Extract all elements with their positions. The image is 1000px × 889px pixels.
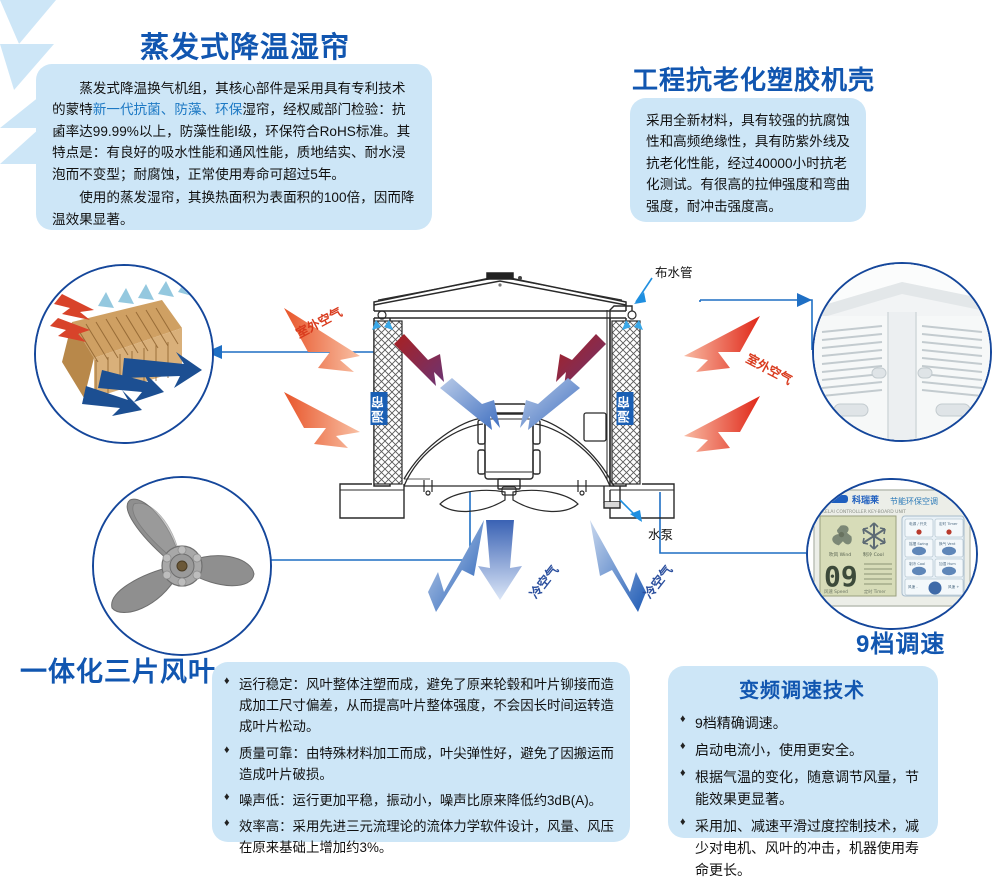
svg-text:摇摆 Swing: 摇摆 Swing (909, 541, 928, 546)
svg-text:风速 +: 风速 + (948, 584, 959, 589)
label-water-pipe: 布水管 (655, 262, 693, 281)
svg-text:换气 Vent: 换气 Vent (939, 541, 956, 546)
label-outdoor-air-left: 室外空气 (292, 302, 345, 342)
arrow-cooled-air-left (440, 378, 500, 430)
svg-text:风速 -: 风速 - (908, 584, 918, 589)
list-item: 9档精确调速。 (680, 712, 924, 734)
list-item: 采用加、减速平滑过度控制技术，减少对电机、风叶的冲击，机器使用寿命更长。 (680, 815, 924, 881)
callout-evaporative-pad: 蒸发式降温换气机组，其核心部件是采用具有专利技术的蒙特新一代抗菌、防藻、环保湿帘… (36, 64, 432, 230)
photo-controller-panel: 科瑞莱 节能环保空调 KELAI CONTROLLER KEY-BOARD UN… (806, 478, 978, 630)
arrow-through-pad-left (394, 334, 444, 386)
connector-lines (206, 300, 812, 560)
svg-text:吹风 Wind: 吹风 Wind (829, 551, 851, 558)
arrow-cold-air-left (428, 520, 484, 612)
svg-text:加湿 Hum: 加湿 Hum (939, 561, 956, 566)
svg-text:制冷 Cool: 制冷 Cool (909, 561, 925, 566)
list-item: 运行稳定：风叶整体注塑而成，避免了原来轮毂和叶片铆接而造成加工尺寸偏差，从而提高… (224, 674, 614, 738)
controller-display-value: 09 (824, 560, 858, 593)
shell-paragraph: 采用全新材料，具有较强的抗腐蚀性和高频绝缘性，具有防紫外线及抗老化性能，经过40… (646, 110, 852, 217)
blade-bullet-list: 运行稳定：风叶整体注塑而成，避免了原来轮毂和叶片铆接而造成加工尺寸偏差，从而提高… (224, 674, 614, 858)
svg-text:电源 / 开关: 电源 / 开关 (909, 521, 927, 526)
infographic-canvas: 蒸发式降温湿帘 工程抗老化塑胶机壳 一体化三片风叶 9档调速 蒸发式降温换气机组… (0, 0, 1000, 889)
venturi-duct (404, 418, 610, 486)
svg-text:制冷 Cool: 制冷 Cool (863, 551, 884, 558)
svg-text:风速 Speed: 风速 Speed (824, 589, 848, 595)
heading-evaporative-pad: 蒸发式降温湿帘 (140, 24, 350, 66)
plastic-shell-illustration (814, 264, 990, 440)
svg-text:定时 Timer: 定时 Timer (939, 521, 958, 526)
label-cold-air-right: 冷空气 (638, 560, 676, 601)
callout-plastic-shell: 采用全新材料，具有较强的抗腐蚀性和高频绝缘性，具有防紫外线及抗老化性能，经过40… (630, 98, 866, 222)
arrow-cooled-air-right (520, 378, 580, 430)
unit-body (374, 273, 626, 486)
fan-motor-assembly (478, 404, 540, 489)
arrow-cold-air-center (478, 520, 522, 600)
label-water-pump: 水泵 (648, 524, 673, 543)
pad-paragraph-1: 蒸发式降温换气机组，其核心部件是采用具有专利技术的蒙特新一代抗菌、防藻、环保湿帘… (52, 78, 416, 185)
list-item: 根据气温的变化，随意调节风量，节能效果更显著。 (680, 766, 924, 810)
speed-bubble-title: 变频调速技术 (680, 676, 924, 708)
pad-text-highlight: 新一代抗菌、防藻、环保 (93, 102, 243, 117)
pad-paragraph-2: 使用的蒸发湿帘，其换热面积为表面积的100倍，因而降温效果显著。 (52, 187, 416, 230)
water-tanks (340, 484, 674, 518)
float-valve-box (584, 413, 606, 441)
fan-blade-illustration (94, 478, 270, 654)
photo-fan-blade (92, 476, 272, 656)
label-outdoor-air-right: 室外空气 (743, 348, 796, 388)
speed-bullet-list: 9档精确调速。 启动电流小，使用更安全。 根据气温的变化，随意调节风量，节能效果… (680, 712, 924, 882)
svg-text:KELAI CONTROLLER KEY-BOARD UN: KELAI CONTROLLER KEY-BOARD UNIT (822, 509, 906, 515)
controller-illustration: 科瑞莱 节能环保空调 KELAI CONTROLLER KEY-BOARD UN… (808, 480, 976, 628)
svg-text:定时 Timer: 定时 Timer (864, 588, 886, 595)
arrow-outdoor-air-right-lower (684, 396, 760, 452)
label-cold-air-left: 冷空气 (524, 560, 562, 601)
fan-blades (440, 487, 578, 511)
list-item: 质量可靠：由特殊材料加工而成，叶尖弹性好，避免了因搬运而造成叶片破损。 (224, 743, 614, 785)
spray-nozzles (372, 311, 643, 330)
list-item: 噪声低：运行更加平稳，振动小，噪声比原来降低约3dB(A)。 (224, 790, 614, 811)
label-pad-left: 湿帘 (371, 392, 388, 425)
arrow-through-pad-right (556, 334, 606, 386)
evaporative-pad-illustration (36, 266, 212, 442)
svg-text:节能环保空调: 节能环保空调 (890, 496, 938, 506)
arrow-outdoor-air-left-lower (284, 392, 360, 448)
photo-plastic-shell (812, 262, 992, 442)
duct-brackets (424, 480, 586, 495)
bubble-tail-pad (0, 0, 56, 44)
list-item: 效率高：采用先进三元流理论的流体力学软件设计，风量、风压在原来基础上增加约3%。 (224, 816, 614, 858)
list-item: 启动电流小，使用更安全。 (680, 739, 924, 761)
heading-plastic-shell: 工程抗老化塑胶机壳 (632, 60, 875, 97)
arrow-cold-air-right (590, 520, 646, 612)
callout-fan-blade: 运行稳定：风叶整体注塑而成，避免了原来轮毂和叶片铆接而造成加工尺寸偏差，从而提高… (212, 662, 630, 842)
label-pad-right: 湿帘 (617, 392, 634, 425)
svg-text:科瑞莱: 科瑞莱 (852, 494, 880, 506)
photo-evaporative-pad (34, 264, 214, 444)
callout-variable-speed: 变频调速技术 9档精确调速。 启动电流小，使用更安全。 根据气温的变化，随意调节… (668, 666, 938, 838)
